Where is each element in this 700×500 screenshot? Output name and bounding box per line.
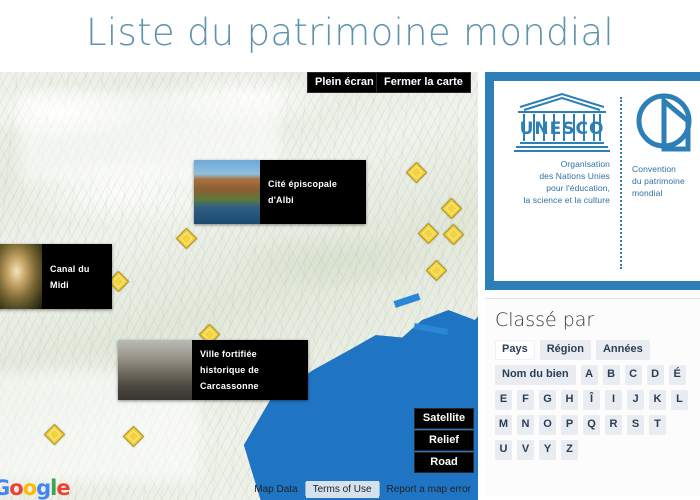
letter-h-button[interactable]: H xyxy=(561,390,578,410)
letter-k-button[interactable]: K xyxy=(649,390,666,410)
letter-d-button[interactable]: D xyxy=(647,365,664,385)
unesco-temple-icon: UNESCO xyxy=(502,91,610,153)
letter-f-button[interactable]: F xyxy=(517,390,534,410)
classe-par-filters: PaysRégionAnnéesNom du bienABCDÉEFGHÎIJK… xyxy=(495,340,700,460)
letter-j-button[interactable]: J xyxy=(627,390,644,410)
filter-nom-du-bien-button[interactable]: Nom du bien xyxy=(495,365,576,385)
letter-e-acute-button[interactable]: É xyxy=(669,365,686,385)
classe-par-panel: Classé par PaysRégionAnnéesNom du bienAB… xyxy=(485,298,700,496)
letter-r-button[interactable]: R xyxy=(605,415,622,435)
letter-i-button[interactable]: I xyxy=(605,390,622,410)
close-map-button[interactable]: Fermer la carte xyxy=(376,72,471,93)
filter-row: MNOPQRST xyxy=(495,415,700,435)
callout-albi[interactable]: Cité épiscopale d'Albi xyxy=(194,160,366,224)
callout-carcassonne[interactable]: Ville fortifiée historique de Carcassonn… xyxy=(118,340,308,400)
filter-annees-button[interactable]: Années xyxy=(596,340,650,360)
map-type-satellite-button[interactable]: Satellite xyxy=(414,408,474,429)
letter-q-button[interactable]: Q xyxy=(583,415,600,435)
callout-carcassonne-thumbnail xyxy=(118,340,192,400)
letter-m-button[interactable]: M xyxy=(495,415,512,435)
letter-a-button[interactable]: A xyxy=(581,365,598,385)
letter-t-button[interactable]: T xyxy=(649,415,666,435)
unesco-organisation-text: Organisation des Nations Unies pour l'éd… xyxy=(502,158,610,206)
callout-canal-thumbnail xyxy=(0,244,42,309)
google-logo: Google xyxy=(0,478,70,499)
world-heritage-emblem-icon xyxy=(632,91,700,158)
terms-of-use-link[interactable]: Terms of Use xyxy=(306,481,379,498)
fullscreen-button[interactable]: Plein écran xyxy=(307,72,382,93)
unesco-logo-panel: UNESCO Organisation des Nations Unies po… xyxy=(485,72,700,290)
letter-g-button[interactable]: G xyxy=(539,390,556,410)
page-title: Liste du patrimoine mondial xyxy=(0,2,700,64)
map-canvas[interactable]: Gîte Cité épiscopale d'Albi Canal du Mid… xyxy=(0,72,478,500)
letter-s-button[interactable]: S xyxy=(627,415,644,435)
filter-row: UVYZ xyxy=(495,440,700,460)
letter-p-button[interactable]: P xyxy=(561,415,578,435)
filter-row: EFGHÎIJKL xyxy=(495,390,700,410)
letter-b-button[interactable]: B xyxy=(603,365,620,385)
unesco-left-column: UNESCO Organisation des Nations Unies po… xyxy=(494,91,618,275)
filter-row: Nom du bienABCDÉ xyxy=(495,365,700,385)
letter-z-button[interactable]: Z xyxy=(561,440,578,460)
callout-albi-thumbnail xyxy=(194,160,260,224)
letter-v-button[interactable]: V xyxy=(517,440,534,460)
map-type-switcher[interactable]: Satellite Relief Road xyxy=(414,408,474,474)
unesco-convention-text: Convention du patrimoine mondial xyxy=(632,163,700,199)
map-type-road-button[interactable]: Road xyxy=(414,452,474,473)
svg-text:UNESCO: UNESCO xyxy=(520,119,605,139)
letter-l-button[interactable]: L xyxy=(671,390,688,410)
callout-albi-label: Cité épiscopale d'Albi xyxy=(260,160,366,224)
map-data-link[interactable]: Map Data xyxy=(247,481,304,498)
map-type-relief-button[interactable]: Relief xyxy=(414,430,474,451)
page-root: Liste du patrimoine mondial Gîte Cité ép… xyxy=(0,0,700,500)
unesco-logo-inner: UNESCO Organisation des Nations Unies po… xyxy=(494,81,700,281)
filter-pays-button[interactable]: Pays xyxy=(495,340,535,360)
callout-carcassonne-label: Ville fortifiée historique de Carcassonn… xyxy=(192,340,308,400)
classe-par-title: Classé par xyxy=(495,309,700,331)
letter-u-button[interactable]: U xyxy=(495,440,512,460)
callout-canal-du-midi[interactable]: Canal du Midi xyxy=(0,244,112,309)
map-attribution-bar: Google Map Data Terms of Use Report a ma… xyxy=(0,478,478,500)
unesco-divider xyxy=(620,97,622,269)
letter-c-button[interactable]: C xyxy=(625,365,642,385)
filter-region-button[interactable]: Région xyxy=(540,340,591,360)
letter-o-button[interactable]: O xyxy=(539,415,556,435)
letter-e-button[interactable]: E xyxy=(495,390,512,410)
filter-row: PaysRégionAnnées xyxy=(495,340,700,360)
letter-i-circ-button[interactable]: Î xyxy=(583,390,600,410)
unesco-right-column: Convention du patrimoine mondial xyxy=(624,91,700,275)
letter-n-button[interactable]: N xyxy=(517,415,534,435)
letter-y-button[interactable]: Y xyxy=(539,440,556,460)
callout-canal-label: Canal du Midi xyxy=(42,244,112,309)
report-map-error-link[interactable]: Report a map error xyxy=(380,481,478,498)
